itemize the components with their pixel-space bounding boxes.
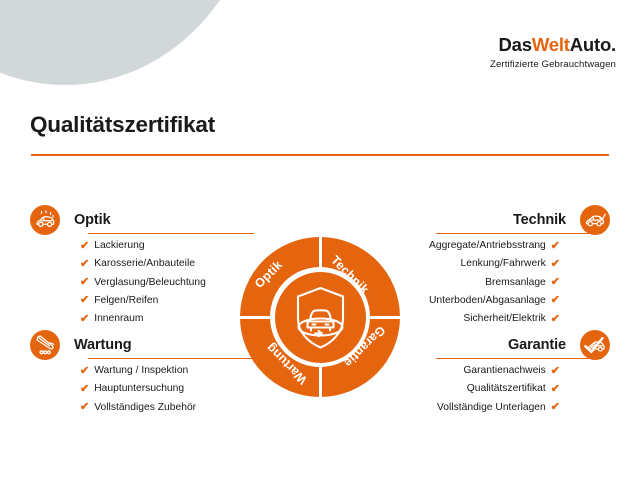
check-icon: ✔ xyxy=(80,241,89,252)
list-item: Unterboden/Abgasanlage✔ xyxy=(392,292,560,310)
section-optik-rule-row xyxy=(30,233,298,234)
check-icon: ✔ xyxy=(80,366,89,377)
check-icon: ✔ xyxy=(80,384,89,395)
check-icon: ✔ xyxy=(551,259,560,270)
title-divider xyxy=(31,154,609,156)
section-garantie-divider xyxy=(436,358,602,359)
list-item-label: Sicherheit/Elektrik xyxy=(463,314,545,324)
check-icon: ✔ xyxy=(80,314,89,325)
brand-word-auto: Auto. xyxy=(570,34,616,55)
list-item: Lenkung/Fahrwerk✔ xyxy=(392,255,560,273)
section-garantie-header: Garantie xyxy=(392,330,610,360)
list-item-label: Lenkung/Fahrwerk xyxy=(461,259,546,269)
list-item-label: Vollständige Unterlagen xyxy=(437,403,546,413)
brand-word-welt: Welt xyxy=(532,34,570,55)
section-wartung-rule-row xyxy=(30,358,298,359)
check-icon: ✔ xyxy=(80,259,89,270)
certificate-page: DasWeltAuto. Zertifizierte Gebrauchtwage… xyxy=(0,0,640,480)
section-garantie-list: Garantienachweis✔ Qualitätszertifikat✔ V… xyxy=(392,362,560,417)
check-icon: ✔ xyxy=(551,402,560,413)
section-technik-header: Technik xyxy=(392,205,610,235)
car-check-icon xyxy=(580,205,610,235)
section-garantie-title: Garantie xyxy=(508,337,566,353)
list-item-label: Bremsanlage xyxy=(485,278,546,288)
check-icon: ✔ xyxy=(551,384,560,395)
list-item: Qualitätszertifikat✔ xyxy=(392,380,560,398)
car-sparkle-icon xyxy=(30,205,60,235)
wrench-bolts-icon xyxy=(30,330,60,360)
section-technik-divider xyxy=(436,233,602,234)
list-item-label: Felgen/Reifen xyxy=(94,296,158,306)
section-wartung: Wartung ✔Wartung / Inspektion ✔Hauptunte… xyxy=(30,330,248,417)
list-item-label: Qualitätszertifikat xyxy=(467,384,546,394)
section-wartung-list: ✔Wartung / Inspektion ✔Hauptuntersuchung… xyxy=(80,362,248,417)
list-item-label: Lackierung xyxy=(94,241,144,251)
section-wartung-title: Wartung xyxy=(74,337,132,353)
list-item: ✔Wartung / Inspektion xyxy=(80,362,248,380)
list-item-label: Vollständiges Zubehör xyxy=(94,403,196,413)
list-item-label: Aggregate/Antriebsstrang xyxy=(429,241,546,251)
list-item: ✔Vollständiges Zubehör xyxy=(80,399,248,417)
list-item-label: Wartung / Inspektion xyxy=(94,366,188,376)
check-icon: ✔ xyxy=(551,295,560,306)
list-item-label: Verglasung/Beleuchtung xyxy=(94,278,206,288)
section-technik-title: Technik xyxy=(513,212,566,228)
brand-wordmark: DasWeltAuto. xyxy=(490,36,616,55)
list-item: Vollständige Unterlagen✔ xyxy=(392,399,560,417)
central-wheel-diagram: Optik Technik Garantie Wartung xyxy=(240,237,400,397)
list-item-label: Karosserie/Anbauteile xyxy=(94,259,195,269)
list-item: ✔Karosserie/Anbauteile xyxy=(80,255,248,273)
list-item: Bremsanlage✔ xyxy=(392,274,560,292)
section-wartung-header: Wartung xyxy=(30,330,248,360)
list-item: ✔Verglasung/Beleuchtung xyxy=(80,274,248,292)
section-wartung-divider xyxy=(88,358,254,359)
brand-subtitle: Zertifizierte Gebrauchtwagen xyxy=(490,60,616,70)
list-item: ✔Lackierung xyxy=(80,237,248,255)
list-item: ✔Innenraum xyxy=(80,310,248,328)
check-icon: ✔ xyxy=(551,366,560,377)
decorative-grey-blob xyxy=(0,0,260,85)
page-title: Qualitätszertifikat xyxy=(30,112,215,138)
check-icon: ✔ xyxy=(551,277,560,288)
list-item-label: Hauptuntersuchung xyxy=(94,384,184,394)
section-optik-divider xyxy=(88,233,254,234)
list-item: Sicherheit/Elektrik✔ xyxy=(392,310,560,328)
section-optik-header: Optik xyxy=(30,205,248,235)
check-icon: ✔ xyxy=(80,402,89,413)
check-icon: ✔ xyxy=(80,295,89,306)
check-icon: ✔ xyxy=(551,241,560,252)
section-optik: Optik ✔Lackierung ✔Karosserie/Anbauteile… xyxy=(30,205,248,328)
section-optik-list: ✔Lackierung ✔Karosserie/Anbauteile ✔Verg… xyxy=(80,237,248,328)
list-item-label: Innenraum xyxy=(94,314,143,324)
section-technik: Technik Aggregate/Antriebsstrang✔ Lenkun… xyxy=(392,205,610,328)
brand-logo: DasWeltAuto. Zertifizierte Gebrauchtwage… xyxy=(490,36,616,69)
list-item: Aggregate/Antriebsstrang✔ xyxy=(392,237,560,255)
list-item: Garantienachweis✔ xyxy=(392,362,560,380)
check-icon: ✔ xyxy=(551,314,560,325)
list-item-label: Garantienachweis xyxy=(463,366,545,376)
section-optik-title: Optik xyxy=(74,212,111,228)
section-garantie: Garantie Garantienachweis✔ Qualitätszert… xyxy=(392,330,610,417)
list-item-label: Unterboden/Abgasanlage xyxy=(429,296,546,306)
check-icon: ✔ xyxy=(80,277,89,288)
section-technik-list: Aggregate/Antriebsstrang✔ Lenkung/Fahrwe… xyxy=(392,237,560,328)
car-big-check-icon xyxy=(580,330,610,360)
list-item: ✔Felgen/Reifen xyxy=(80,292,248,310)
list-item: ✔Hauptuntersuchung xyxy=(80,380,248,398)
brand-word-das: Das xyxy=(498,34,531,55)
